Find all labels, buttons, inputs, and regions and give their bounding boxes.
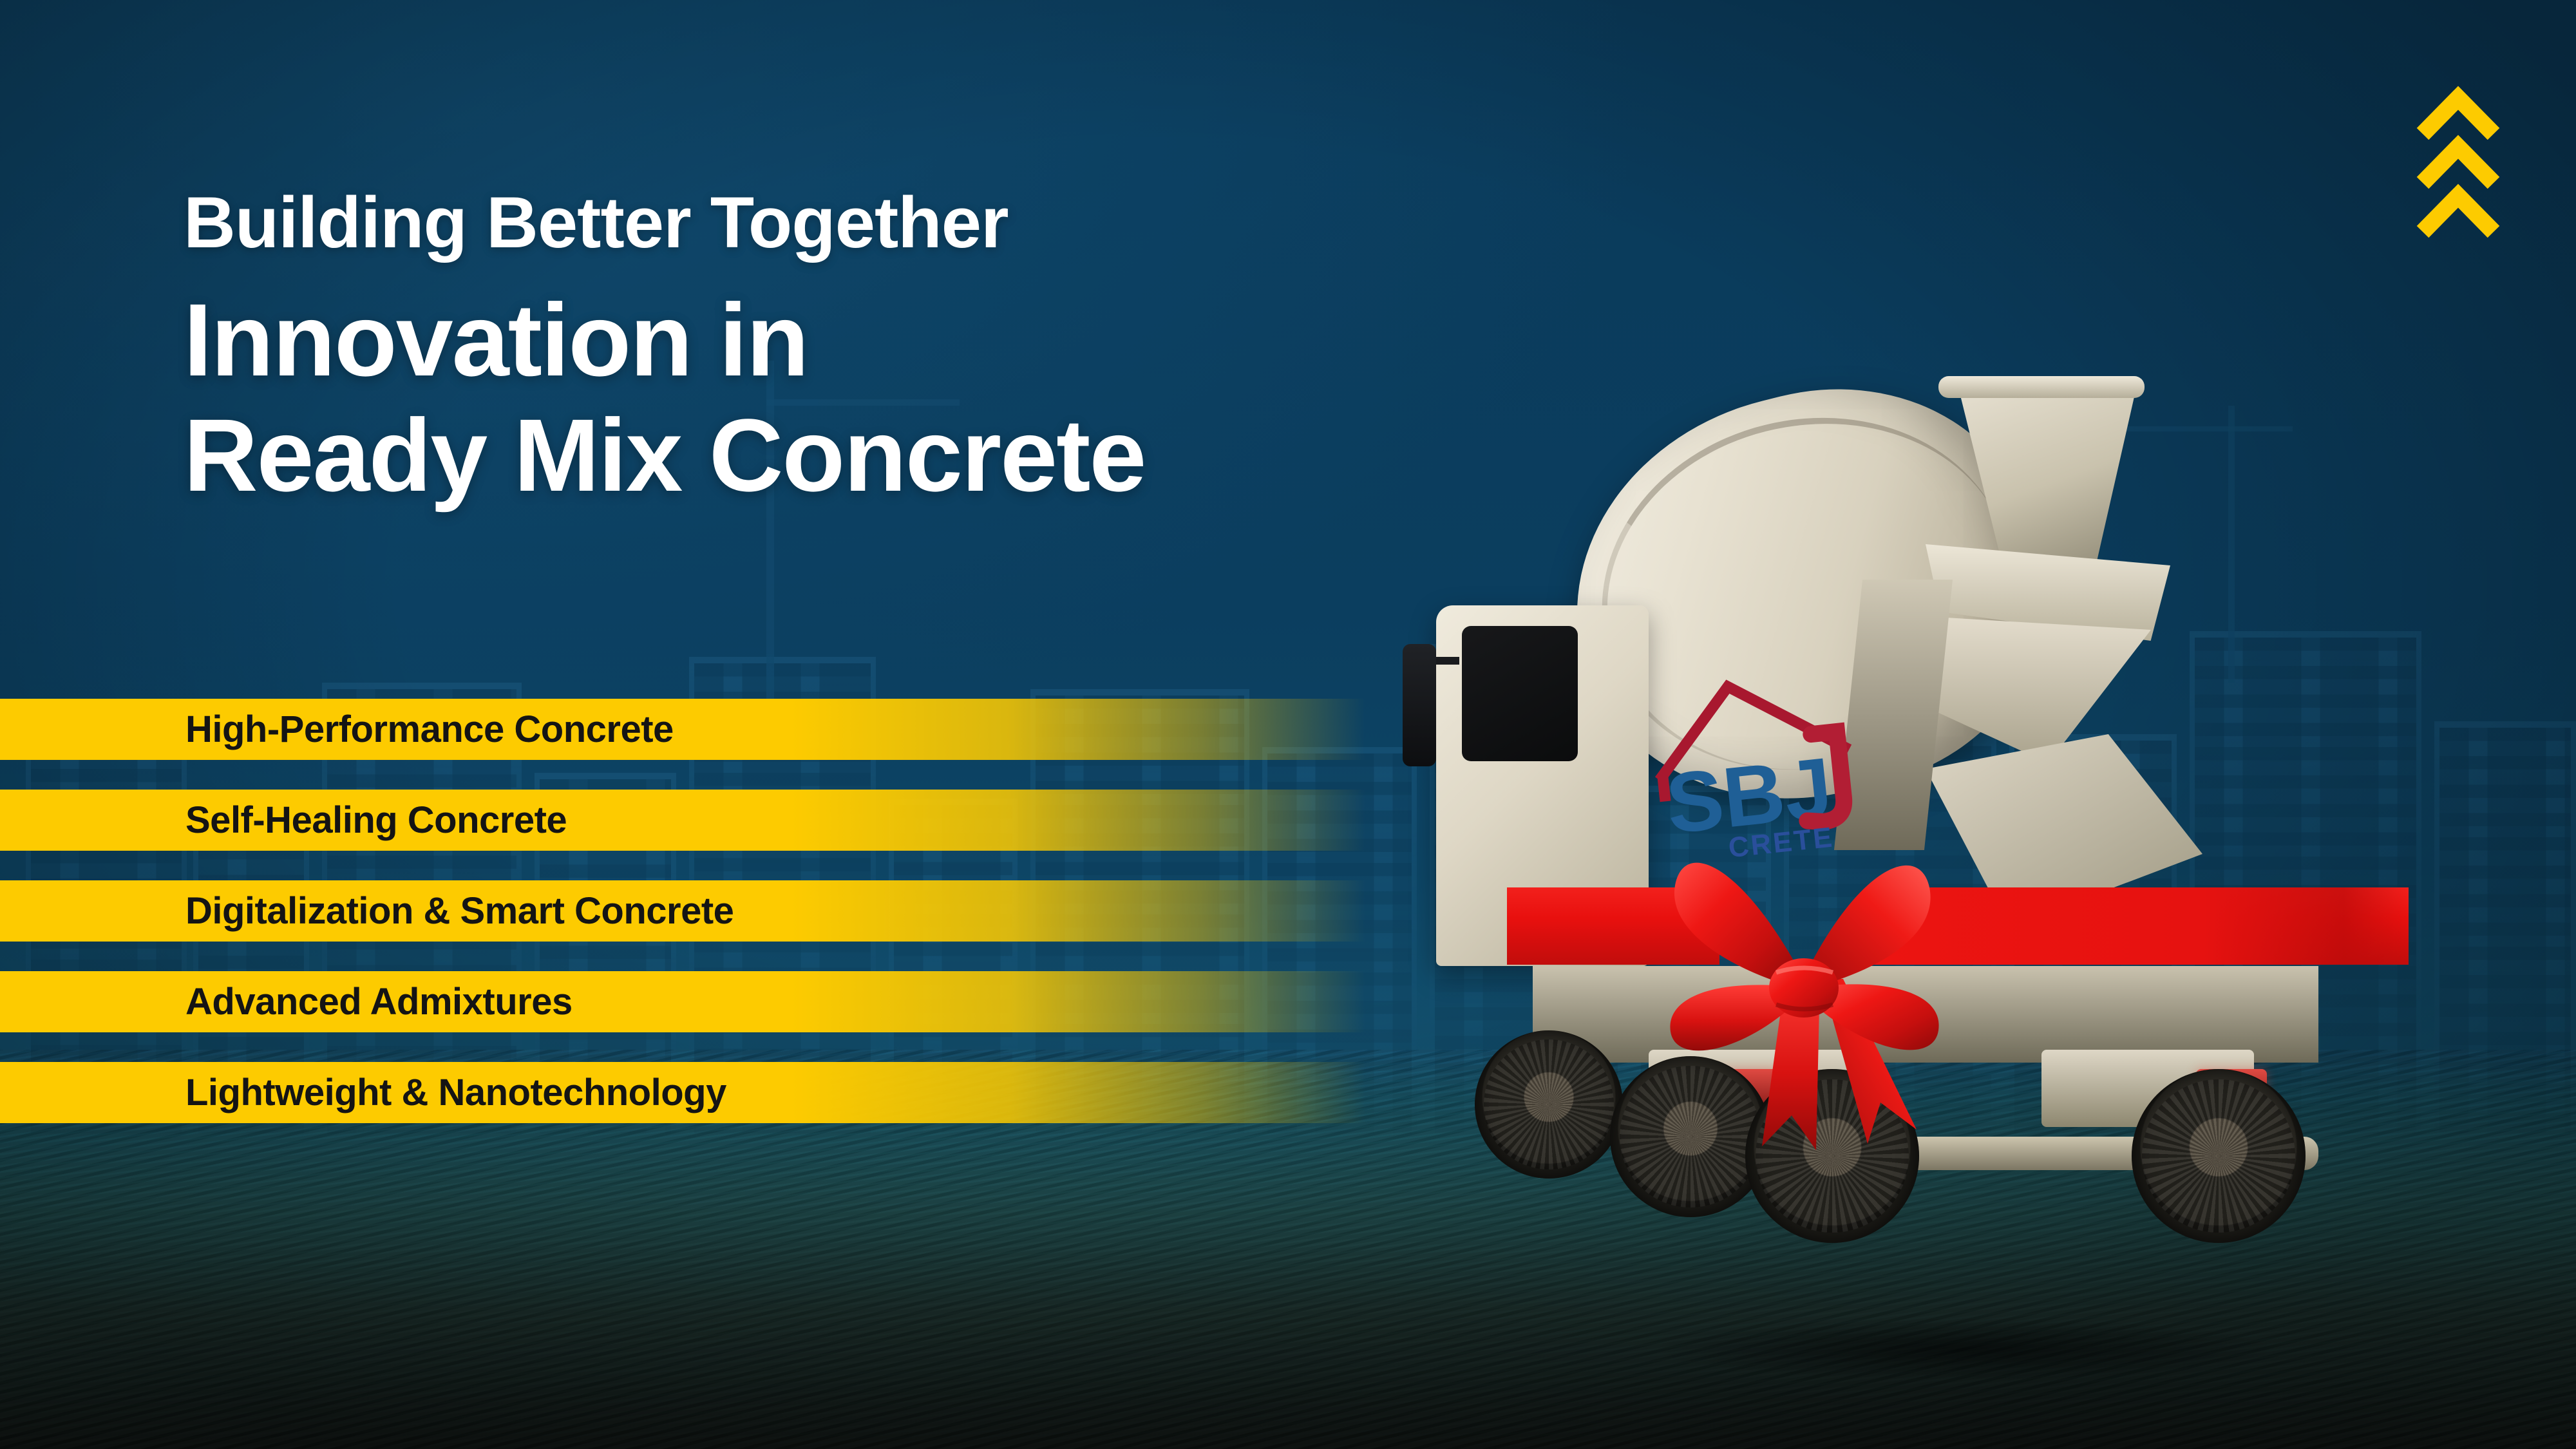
feature-label: Advanced Admixtures [185, 971, 573, 1032]
feature-item-2[interactable]: Self-Healing Concrete [0, 790, 1546, 851]
title-line-1: Innovation in [184, 282, 808, 397]
feature-label: Digitalization & Smart Concrete [185, 880, 734, 942]
feature-item-1[interactable]: High-Performance Concrete [0, 699, 1546, 760]
feature-label: Lightweight & Nanotechnology [185, 1062, 726, 1123]
feature-item-5[interactable]: Lightweight & Nanotechnology [0, 1062, 1546, 1123]
feature-label: Self-Healing Concrete [185, 790, 567, 851]
double-chevron-up-icon [2416, 84, 2500, 238]
truck-wheel-rear [2132, 1069, 2306, 1243]
eyebrow-text: Building Better Together [184, 187, 1729, 259]
feature-item-4[interactable]: Advanced Admixtures [0, 971, 1546, 1032]
page-title: Innovation in Ready Mix Concrete [184, 282, 1729, 513]
feature-label: High-Performance Concrete [185, 699, 674, 760]
red-gift-bow [1604, 786, 2003, 1185]
promo-banner: SBJ CRETE [0, 0, 2576, 1449]
title-line-2: Ready Mix Concrete [184, 397, 1729, 513]
feature-list: High-Performance Concrete Self-Healing C… [0, 699, 1546, 1153]
mixer-hopper-lip [1938, 376, 2145, 398]
feature-item-3[interactable]: Digitalization & Smart Concrete [0, 880, 1546, 942]
headline-block: Building Better Together Innovation in R… [184, 187, 1729, 513]
